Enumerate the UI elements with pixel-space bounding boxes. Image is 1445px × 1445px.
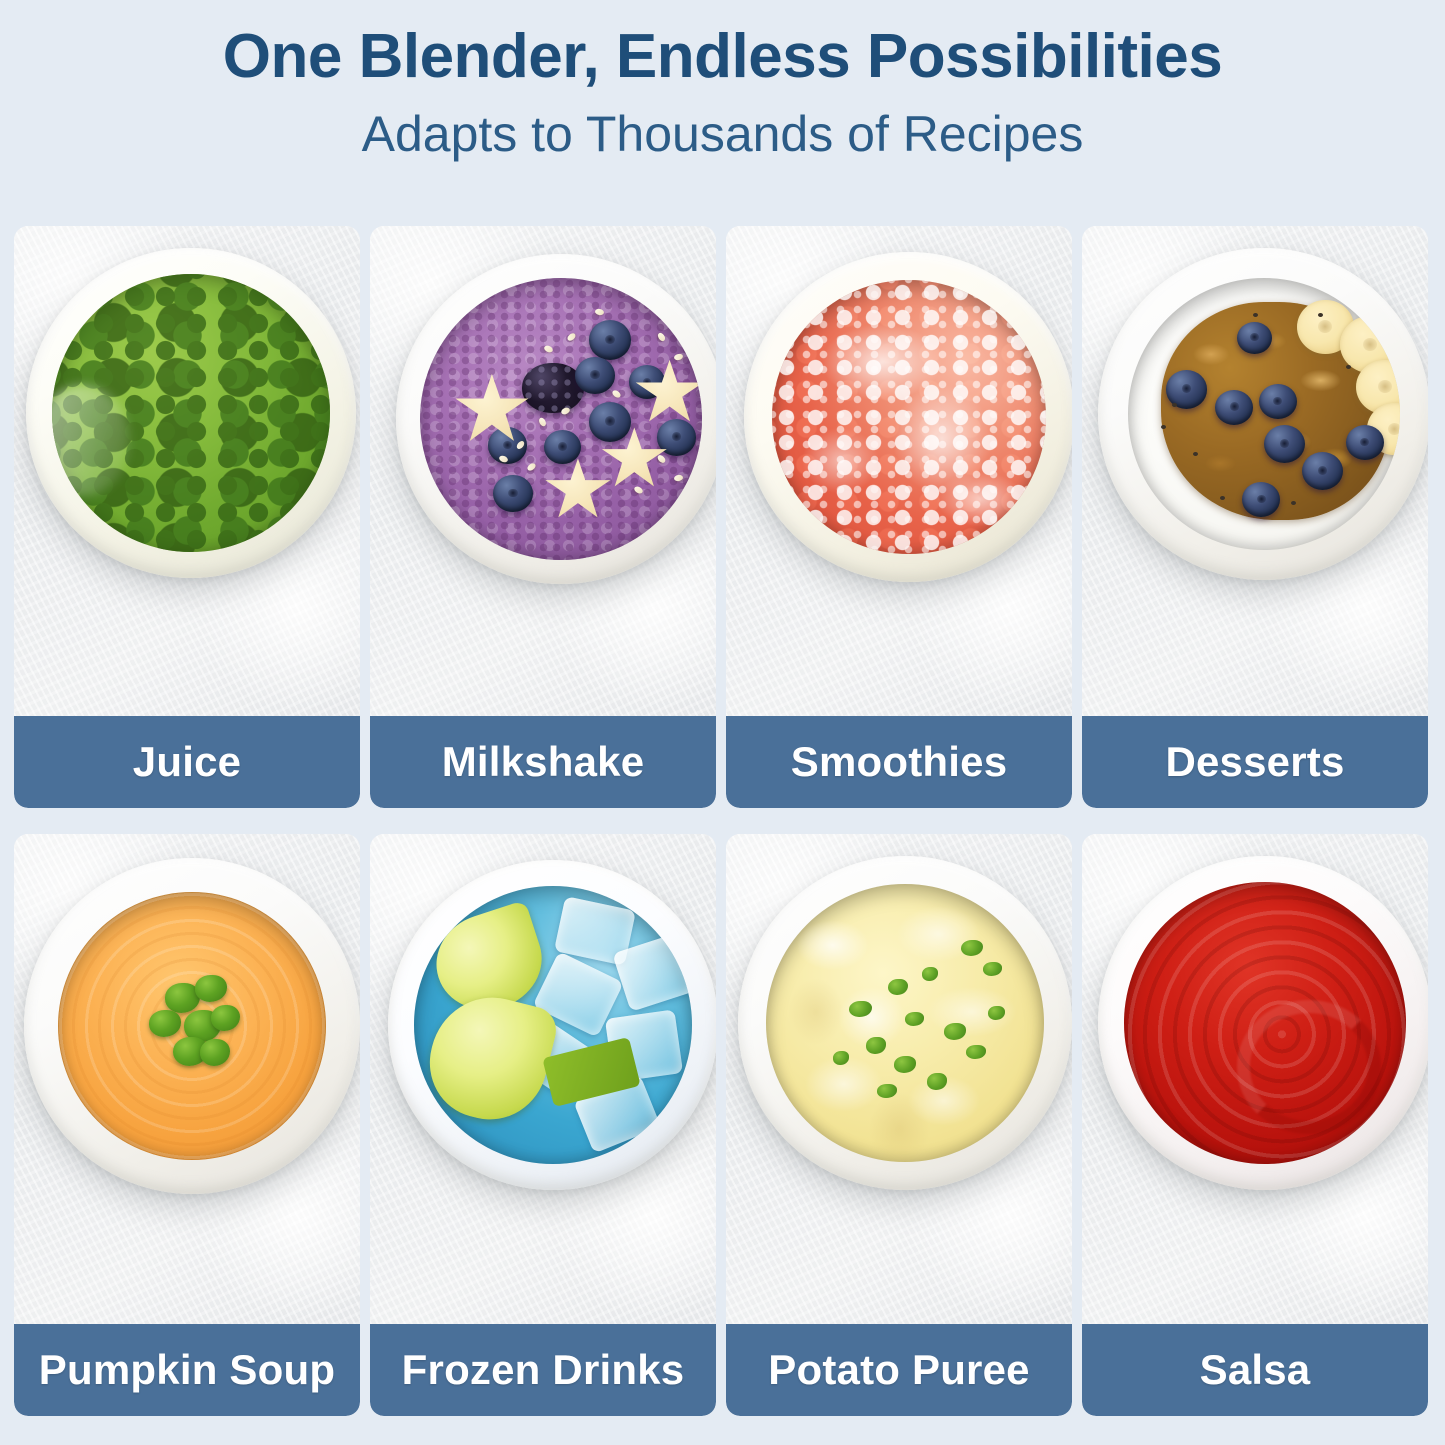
- recipe-tile-desserts[interactable]: Desserts: [1082, 226, 1428, 808]
- frozen-drink-contents: [414, 886, 692, 1164]
- blueberry-icon: [589, 320, 631, 359]
- frozen-drinks-photo: [370, 834, 716, 1324]
- tile-label-salsa: Salsa: [1082, 1324, 1428, 1416]
- chia-seed-icon: [1172, 403, 1177, 407]
- juice-contents: [52, 274, 330, 552]
- blueberry-icon: [589, 402, 631, 441]
- bowl-icon: [744, 252, 1072, 582]
- salsa-contents: [1124, 882, 1406, 1164]
- page-subtitle: Adapts to Thousands of Recipes: [0, 107, 1445, 162]
- chia-seed-icon: [1161, 425, 1166, 429]
- recipe-tile-milkshake[interactable]: Milkshake: [370, 226, 716, 808]
- blueberry-icon: [1259, 384, 1297, 419]
- tile-label-desserts: Desserts: [1082, 716, 1428, 808]
- bowl-icon: [396, 254, 716, 584]
- blueberry-icon: [1237, 322, 1272, 355]
- blueberry-icon: [1215, 390, 1253, 425]
- bowl-icon: [24, 858, 360, 1194]
- tile-label-frozen-drinks: Frozen Drinks: [370, 1324, 716, 1416]
- potato-puree-contents: [766, 884, 1044, 1162]
- milkshake-photo: [370, 226, 716, 716]
- lime-wedge-icon: [418, 985, 561, 1132]
- tile-label-juice: Juice: [14, 716, 360, 808]
- recipe-grid: Juice: [14, 226, 1431, 1416]
- granita-contents: [772, 280, 1046, 554]
- juice-photo: [14, 226, 360, 716]
- blackberry-icon: [522, 363, 584, 414]
- bowl-icon: [26, 248, 356, 578]
- header-banner: One Blender, Endless Possibilities Adapt…: [0, 0, 1445, 210]
- salsa-photo: [1082, 834, 1428, 1324]
- recipe-tile-pumpkin-soup[interactable]: Pumpkin Soup: [14, 834, 360, 1416]
- smoothie-texture: [420, 278, 702, 560]
- tile-label-potato-puree: Potato Puree: [726, 1324, 1072, 1416]
- ice-highlight-texture: [772, 280, 1046, 554]
- tile-label-pumpkin-soup: Pumpkin Soup: [14, 1324, 360, 1416]
- blueberry-icon: [1302, 452, 1343, 490]
- milkshake-contents: [420, 278, 702, 560]
- parsley-flake-icon: [866, 1037, 885, 1054]
- recipe-tile-salsa[interactable]: Salsa: [1082, 834, 1428, 1416]
- pumpkin-soup-photo: [14, 834, 360, 1324]
- page-title: One Blender, Endless Possibilities: [0, 24, 1445, 91]
- grid-row-1: Juice: [14, 226, 1431, 808]
- bowl-icon: [1098, 856, 1428, 1190]
- tile-label-smoothies: Smoothies: [726, 716, 1072, 808]
- bowl-icon: [738, 856, 1072, 1190]
- blueberry-icon: [575, 357, 614, 394]
- bowl-icon: [388, 860, 716, 1190]
- grid-row-2: Pumpkin Soup: [14, 834, 1431, 1416]
- tile-label-milkshake: Milkshake: [370, 716, 716, 808]
- recipe-tile-smoothies[interactable]: Smoothies: [726, 226, 1072, 808]
- blueberry-icon: [544, 430, 581, 464]
- bowl-icon: [1098, 248, 1428, 580]
- chia-seed-icon: [1346, 365, 1351, 369]
- desserts-photo: [1082, 226, 1428, 716]
- salsa-swirl-hook: [1237, 1000, 1381, 1133]
- recipe-tile-potato-puree[interactable]: Potato Puree: [726, 834, 1072, 1416]
- blueberry-icon: [1346, 425, 1384, 460]
- parsley-flake-icon: [927, 1073, 946, 1090]
- blueberry-icon: [1264, 425, 1305, 463]
- soup-contents: [58, 892, 326, 1160]
- mashed-potato-texture: [766, 884, 1044, 1162]
- recipe-tile-juice[interactable]: Juice: [14, 226, 360, 808]
- yogurt-contents: [1128, 278, 1400, 550]
- blueberry-icon: [493, 475, 532, 512]
- smoothies-photo: [726, 226, 1072, 716]
- recipe-tile-frozen-drinks[interactable]: Frozen Drinks: [370, 834, 716, 1416]
- potato-puree-photo: [726, 834, 1072, 1324]
